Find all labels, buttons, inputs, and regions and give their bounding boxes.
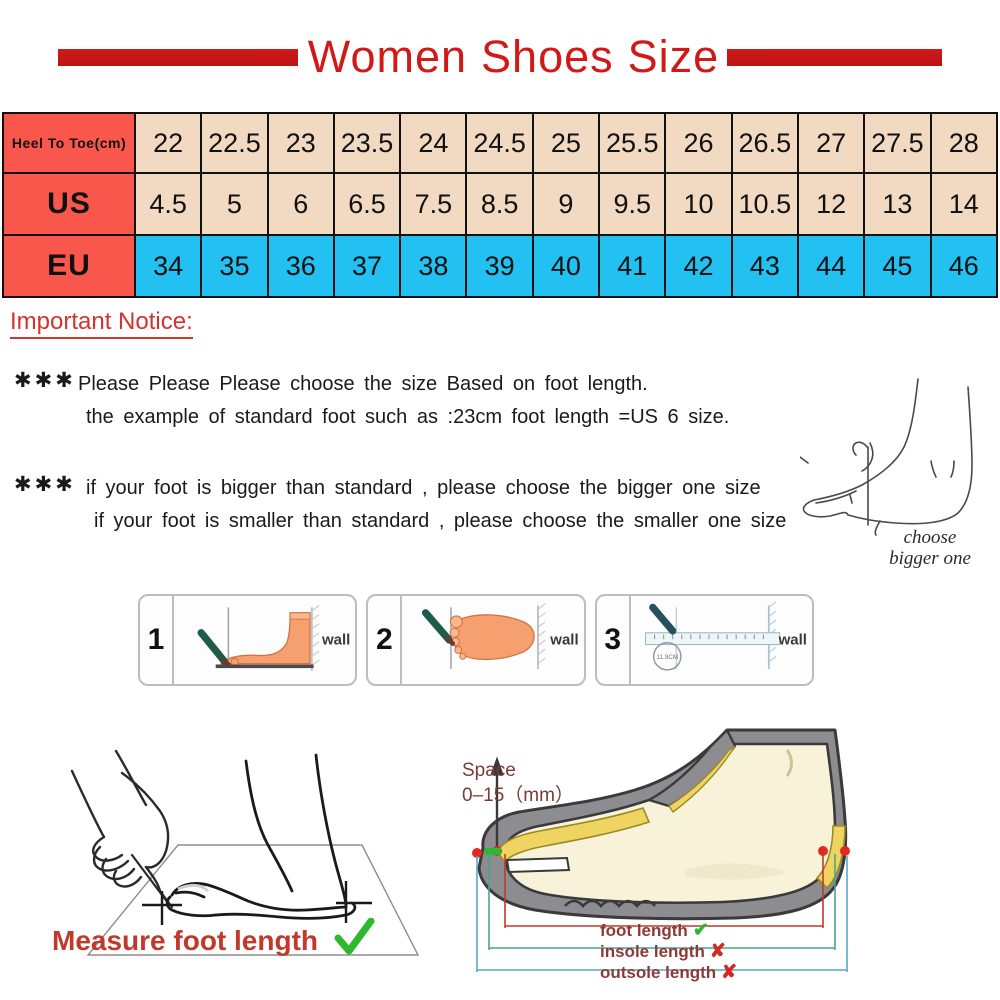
notice-2-line-1: if your foot is bigger than standard , p… xyxy=(86,472,786,505)
notice-block-2: ✱✱✱ if your foot is bigger than standard… xyxy=(8,472,786,538)
cell-heel-11: 27.5 xyxy=(864,113,930,173)
step-3-ruler-value: 11.9CM xyxy=(656,654,678,661)
cell-us-7: 9.5 xyxy=(599,173,665,235)
cell-heel-5: 24.5 xyxy=(466,113,532,173)
cell-eu-4: 38 xyxy=(400,235,466,297)
cell-us-11: 13 xyxy=(864,173,930,235)
table-row-eu: EU 34 35 36 37 38 39 40 41 42 43 44 45 4… xyxy=(3,235,997,297)
row-header-us: US xyxy=(3,173,135,235)
row-header-heel-to-toe: Heel To Toe(cm) xyxy=(3,113,135,173)
cell-eu-12: 46 xyxy=(931,235,997,297)
notice-2-line-2: if your foot is smaller than standard , … xyxy=(94,505,786,538)
table-row-heel-to-toe: Heel To Toe(cm) 22 22.5 23 23.5 24 24.5 … xyxy=(3,113,997,173)
cell-heel-2: 23 xyxy=(268,113,334,173)
space-label-line-2: 0–15（mm） xyxy=(462,783,574,808)
step-1-wall-label: wall xyxy=(322,632,350,649)
insole-length-cross-icon: ✘ xyxy=(710,941,726,962)
step-3-illustration: 11.9CM wall xyxy=(631,596,812,684)
asterisk-bullet-icon-2: ✱✱✱ xyxy=(14,472,76,497)
cell-eu-6: 40 xyxy=(533,235,599,297)
cell-us-10: 12 xyxy=(798,173,864,235)
choose-caption-line-1: choose xyxy=(855,527,1000,548)
choose-bigger-one-caption: choose bigger one xyxy=(855,527,1000,569)
cell-eu-0: 34 xyxy=(135,235,201,297)
cell-us-8: 10 xyxy=(665,173,731,235)
cell-heel-12: 28 xyxy=(931,113,997,173)
notice-block-1: ✱✱✱ Please Please Please choose the size… xyxy=(8,368,729,434)
outsole-length-label-row: outsole length ✘ xyxy=(600,962,900,983)
cell-us-5: 8.5 xyxy=(466,173,532,235)
shoe-length-labels: foot length ✔ insole length ✘ outsole le… xyxy=(600,920,900,983)
choose-caption-line-2: bigger one xyxy=(855,548,1000,569)
cell-eu-11: 45 xyxy=(864,235,930,297)
cell-heel-1: 22.5 xyxy=(201,113,267,173)
asterisk-bullet-icon-1: ✱✱✱ xyxy=(14,368,76,393)
title-bar-left xyxy=(58,49,298,66)
cell-heel-6: 25 xyxy=(533,113,599,173)
cell-heel-0: 22 xyxy=(135,113,201,173)
important-notice-heading: Important Notice: xyxy=(10,308,193,339)
cell-heel-3: 23.5 xyxy=(334,113,400,173)
step-2-illustration: wall xyxy=(402,596,583,684)
cell-heel-7: 25.5 xyxy=(599,113,665,173)
cell-heel-9: 26.5 xyxy=(732,113,798,173)
cell-eu-2: 36 xyxy=(268,235,334,297)
cell-us-6: 9 xyxy=(533,173,599,235)
outsole-length-cross-icon: ✘ xyxy=(721,962,737,983)
cell-us-4: 7.5 xyxy=(400,173,466,235)
cell-heel-10: 27 xyxy=(798,113,864,173)
cell-us-12: 14 xyxy=(931,173,997,235)
cell-eu-3: 37 xyxy=(334,235,400,297)
page-title-word-2: Shoes xyxy=(481,31,614,82)
size-conversion-table: Heel To Toe(cm) 22 22.5 23 23.5 24 24.5 … xyxy=(2,112,998,298)
insole-length-label: insole length xyxy=(600,941,705,962)
cell-us-9: 10.5 xyxy=(732,173,798,235)
foot-length-label: foot length xyxy=(600,920,688,941)
outsole-length-label: outsole length xyxy=(600,962,716,983)
step-box-2: 2 xyxy=(366,594,585,686)
cell-eu-8: 42 xyxy=(665,235,731,297)
step-number-3: 3 xyxy=(597,596,631,684)
cell-us-2: 6 xyxy=(268,173,334,235)
row-header-eu: EU xyxy=(3,235,135,297)
cell-us-0: 4.5 xyxy=(135,173,201,235)
step-number-1: 1 xyxy=(140,596,174,684)
page-title-word-1: Women xyxy=(308,31,467,82)
measure-foot-length-caption: Measure foot length xyxy=(52,925,318,957)
cell-eu-10: 44 xyxy=(798,235,864,297)
title-bar-right xyxy=(727,49,942,66)
step-box-3: 3 xyxy=(595,594,814,686)
cell-eu-9: 43 xyxy=(732,235,798,297)
space-label-line-1: Space xyxy=(462,758,574,783)
measure-check-icon xyxy=(333,918,375,963)
page-title: WomenShoesSize xyxy=(308,31,719,83)
notice-1-line-1: Please Please Please choose the size Bas… xyxy=(78,368,729,401)
cell-heel-4: 24 xyxy=(400,113,466,173)
cell-eu-7: 41 xyxy=(599,235,665,297)
cell-us-1: 5 xyxy=(201,173,267,235)
step-3-wall-label: wall xyxy=(779,632,807,649)
step-box-1: 1 wal xyxy=(138,594,357,686)
insole-length-label-row: insole length ✘ xyxy=(600,941,900,962)
cell-eu-1: 35 xyxy=(201,235,267,297)
foot-length-check-icon: ✔ xyxy=(693,920,709,941)
step-1-illustration: wall xyxy=(174,596,355,684)
measurement-steps: 1 wal xyxy=(138,594,814,686)
notice-1-line-2: the example of standard foot such as :23… xyxy=(86,401,729,434)
step-number-2: 2 xyxy=(368,596,402,684)
shoe-size-chart-page: WomenShoesSize Heel To Toe(cm) 22 22.5 2… xyxy=(0,0,1000,1000)
page-title-row: WomenShoesSize xyxy=(0,26,1000,88)
table-row-us: US 4.5 5 6 6.5 7.5 8.5 9 9.5 10 10.5 12 … xyxy=(3,173,997,235)
cell-heel-8: 26 xyxy=(665,113,731,173)
page-title-word-3: Size xyxy=(628,31,720,82)
space-measurement-label: Space 0–15（mm） xyxy=(462,758,574,808)
foot-length-label-row: foot length ✔ xyxy=(600,920,900,941)
cell-eu-5: 39 xyxy=(466,235,532,297)
cell-us-3: 6.5 xyxy=(334,173,400,235)
step-2-wall-label: wall xyxy=(550,632,578,649)
